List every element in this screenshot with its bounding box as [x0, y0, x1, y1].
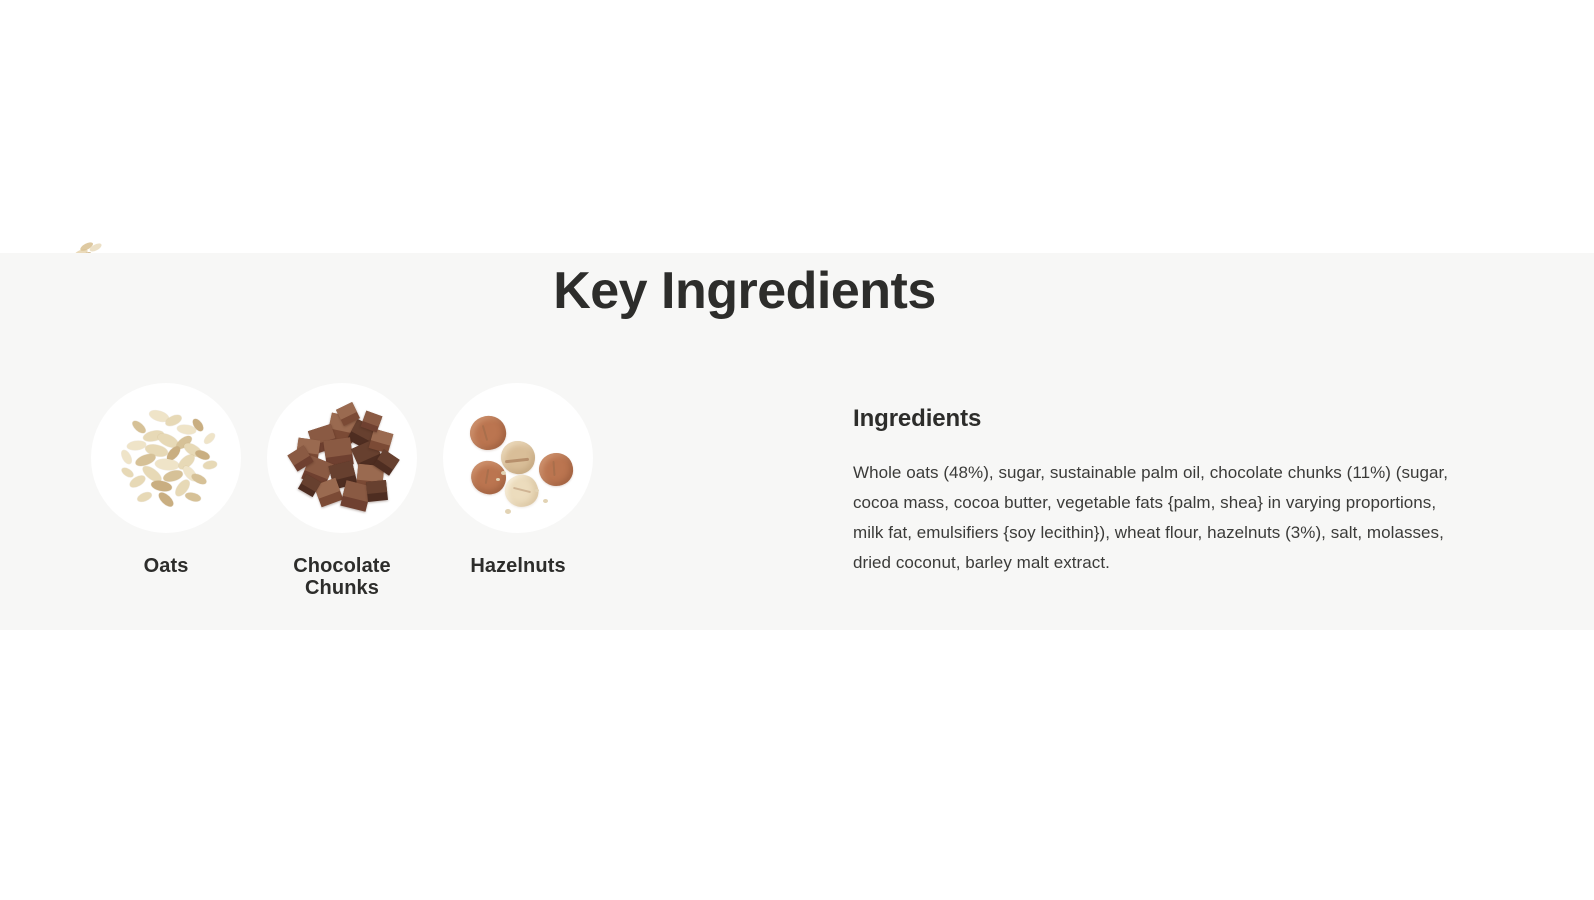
- oats-photo-icon: [91, 383, 241, 533]
- ingredients-heading: Ingredients: [853, 405, 1467, 434]
- top-white-band: [0, 0, 1594, 253]
- ingredient-item-chocolate-chunks[interactable]: Chocolate Chunks: [267, 383, 417, 600]
- stray-oat-flake-icon: [70, 236, 108, 253]
- chocolate-chunks-photo-icon: [267, 383, 417, 533]
- page-title: Key Ingredients: [0, 259, 1489, 324]
- ingredient-item-oats[interactable]: Oats: [91, 383, 241, 577]
- ingredient-item-hazelnuts[interactable]: Hazelnuts: [443, 383, 593, 577]
- ingredient-label: Oats: [144, 555, 189, 577]
- ingredient-label: Chocolate Chunks: [267, 555, 417, 600]
- hazelnuts-photo-icon: [443, 383, 593, 533]
- ingredients-body-text: Whole oats (48%), sugar, sustainable pal…: [853, 458, 1467, 578]
- ingredients-gallery: Oats: [91, 383, 593, 600]
- ingredients-page: Key Ingredients: [0, 0, 1594, 900]
- ingredients-panel: Ingredients Whole oats (48%), sugar, sus…: [853, 405, 1467, 578]
- key-ingredients-section: Key Ingredients: [0, 253, 1594, 630]
- bottom-white-band: [0, 630, 1594, 900]
- ingredient-label: Hazelnuts: [470, 555, 565, 577]
